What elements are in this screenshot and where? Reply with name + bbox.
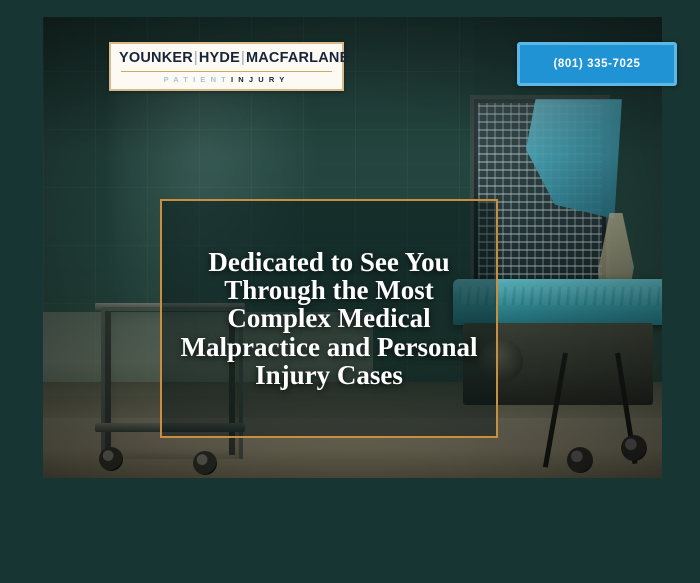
logo-name-younker: YOUNKER <box>119 50 193 66</box>
cart-caster <box>193 451 217 475</box>
operating-table-caster <box>567 447 593 473</box>
logo-name-hyde: HYDE <box>199 50 240 66</box>
logo-name-macfarlane: MACFARLANE <box>246 50 350 66</box>
logo-firm-name: YOUNKER|HYDE|MACFARLANE <box>119 51 334 66</box>
page-root: YOUNKER|HYDE|MACFARLANE PATIENTINJURY (8… <box>0 0 700 583</box>
logo-tagline: PATIENTINJURY <box>119 76 334 84</box>
logo-divider-rule <box>121 71 332 72</box>
phone-call-button[interactable]: (801) 335-7025 <box>517 42 677 86</box>
headline-frame: Dedicated to See You Through the Most Co… <box>160 199 498 438</box>
site-logo[interactable]: YOUNKER|HYDE|MACFARLANE PATIENTINJURY <box>109 42 344 91</box>
logo-tagline-injury: INJURY <box>231 75 289 84</box>
logo-tagline-patient: PATIENT <box>164 75 231 84</box>
page-title: Dedicated to See You Through the Most Co… <box>162 248 496 388</box>
cart-caster <box>99 447 123 471</box>
phone-number-label: (801) 335-7025 <box>553 58 640 70</box>
operating-table-caster <box>621 435 647 461</box>
